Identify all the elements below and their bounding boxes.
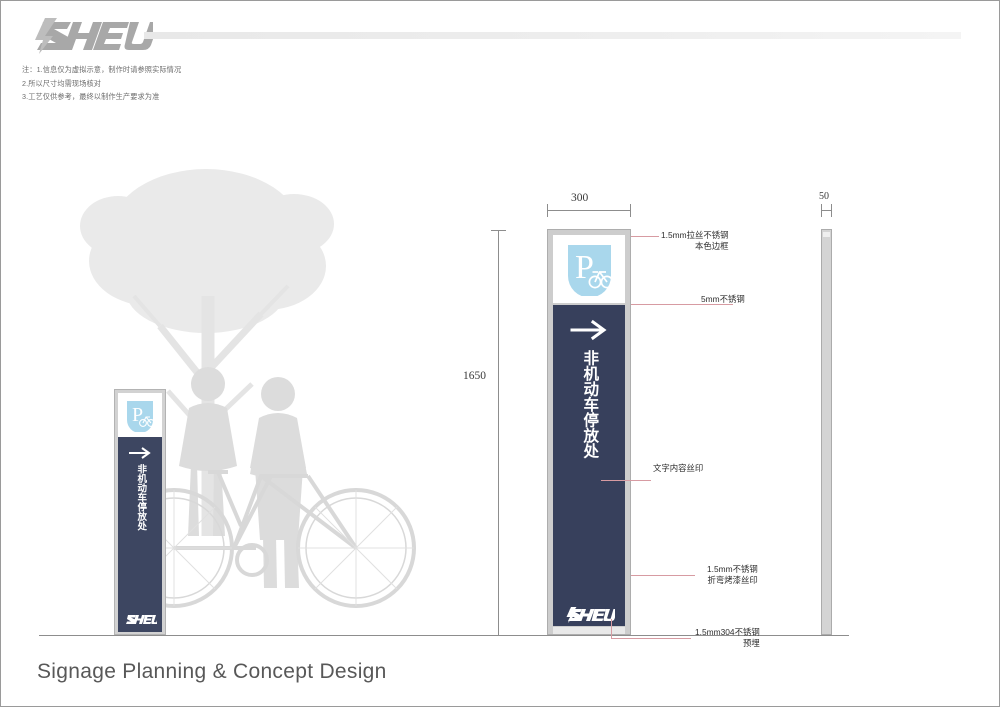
callout-footing: 1.5mm304不锈钢 预埋 bbox=[695, 627, 760, 649]
height-dimension-tick-top bbox=[491, 230, 506, 231]
note-line-2: 2.所以尺寸均需现场核对 bbox=[22, 77, 282, 91]
page-title: Signage Planning & Concept Design bbox=[37, 660, 387, 684]
callout-text-print: 文字内容丝印 bbox=[653, 463, 703, 474]
callout-leader-footing bbox=[611, 638, 691, 639]
callout-footing-line2: 预埋 bbox=[695, 638, 760, 649]
main-sign-body-panel: 非机动车停放处 bbox=[553, 305, 625, 626]
bicycle-parking-shield-icon: P bbox=[125, 399, 155, 432]
right-arrow-icon bbox=[569, 319, 609, 341]
mini-sign-zhefu-logo-icon bbox=[123, 614, 157, 625]
note-line-3: 3.工艺仅供参考，最终以制作生产要求为准 bbox=[22, 90, 282, 104]
mini-sign-body: P 非机动车停放处 bbox=[118, 393, 162, 632]
svg-text:P: P bbox=[575, 249, 594, 286]
callout-top-frame-line1: 1.5mm拉丝不锈钢 bbox=[661, 230, 728, 240]
height-dimension-line bbox=[498, 230, 499, 636]
side-profile-cap bbox=[823, 232, 830, 237]
height-dimension-label: 1650 bbox=[463, 370, 486, 382]
depth-dimension-label: 50 bbox=[819, 191, 829, 202]
design-board: 注：1.信息仅为虚拟示意，制作时请参照实际情况 2.所以尺寸均需现场核对 3.工… bbox=[0, 0, 1000, 707]
main-sign-vertical-text: 非机动车停放处 bbox=[579, 350, 600, 459]
callout-footing-line1: 1.5mm304不锈钢 bbox=[695, 627, 760, 637]
header-zhefu-logo-icon bbox=[23, 16, 153, 56]
width-dimension-label: 300 bbox=[571, 192, 588, 204]
notes-block: 注：1.信息仅为虚拟示意，制作时请参照实际情况 2.所以尺寸均需现场核对 3.工… bbox=[22, 63, 282, 104]
main-sign-elevation: P 非机动车停放处 bbox=[547, 229, 631, 635]
svg-text:P: P bbox=[132, 404, 143, 426]
callout-base-plate: 1.5mm不锈钢 折弯烤漆丝印 bbox=[707, 564, 758, 586]
main-sign-zhefu-logo-icon bbox=[563, 607, 615, 623]
callout-leader-base-plate bbox=[631, 575, 695, 576]
rendered-sign-preview: P 非机动车停放处 bbox=[114, 389, 166, 635]
header-rule bbox=[144, 32, 961, 39]
callout-panel: 5mm不锈钢 bbox=[701, 294, 745, 305]
callout-base-plate-line1: 1.5mm不锈钢 bbox=[707, 564, 758, 574]
depth-dimension-tick-right bbox=[831, 204, 832, 217]
mini-sign-vertical-text: 非机动车停放处 bbox=[134, 464, 147, 531]
mini-right-arrow-icon bbox=[127, 446, 153, 460]
bicycle-parking-shield-icon: P bbox=[565, 242, 614, 296]
depth-dimension-tick-left bbox=[821, 204, 822, 217]
side-profile-view bbox=[821, 229, 832, 635]
callout-top-frame-line2: 本色边框 bbox=[661, 241, 728, 252]
mini-sign-header-panel: P bbox=[118, 393, 162, 437]
callout-top-frame: 1.5mm拉丝不锈钢 本色边框 bbox=[661, 230, 728, 252]
callout-leader-text-print bbox=[601, 480, 651, 481]
main-sign-header-panel: P bbox=[553, 235, 625, 303]
callout-leader-top-frame bbox=[631, 236, 659, 237]
width-dimension-line bbox=[547, 210, 631, 211]
width-dimension-tick-left bbox=[547, 204, 548, 217]
width-dimension-tick-right bbox=[630, 204, 631, 217]
note-line-1: 注：1.信息仅为虚拟示意，制作时请参照实际情况 bbox=[22, 63, 282, 77]
main-sign-base-plate bbox=[553, 627, 625, 634]
callout-leader-footing-vertical bbox=[611, 619, 612, 639]
callout-base-plate-line2: 折弯烤漆丝印 bbox=[707, 575, 758, 586]
